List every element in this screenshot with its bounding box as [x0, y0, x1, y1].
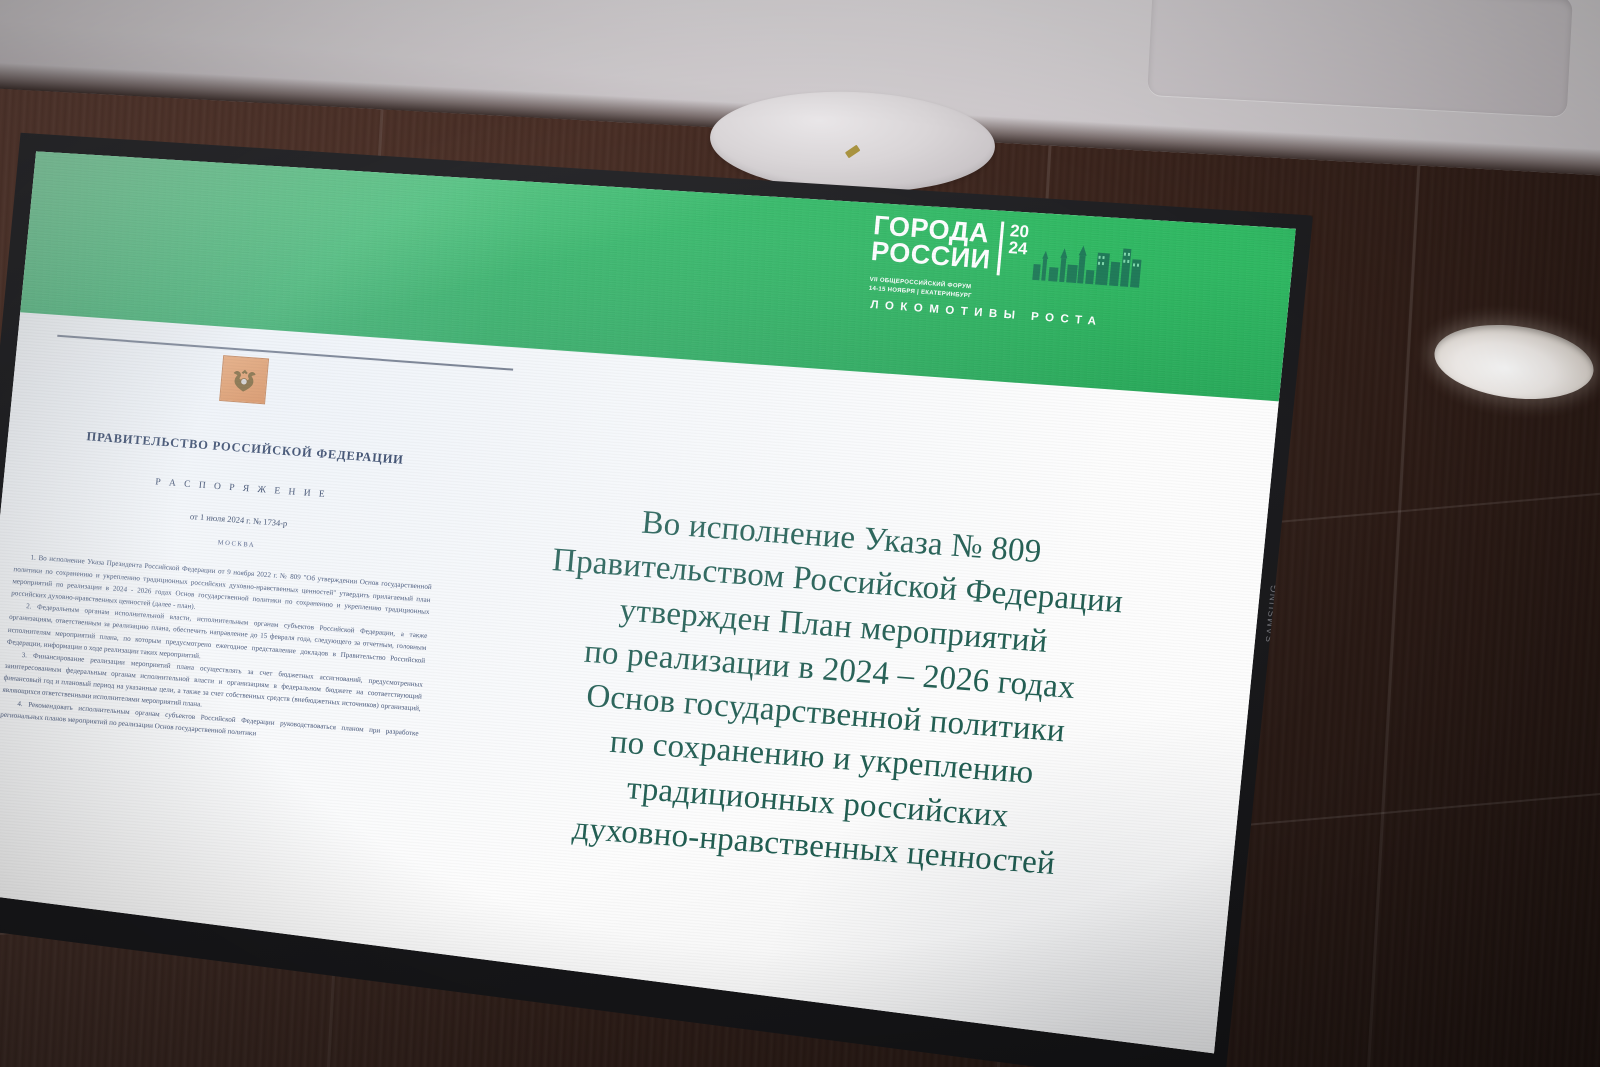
government-decree-document: ПРАВИТЕЛЬСТВО РОССИЙСКОЙ ФЕДЕРАЦИИ Р А С… — [0, 332, 456, 938]
wall-mounted-television: SAMSUNG ГОРОДА РОССИИ — [0, 119, 1325, 1067]
forum-logo: ГОРОДА РОССИИ 20 24 — [858, 212, 1267, 427]
forum-logo-year-block: 20 24 — [1008, 222, 1030, 257]
slide-headline: Во исполнение Указа № 809 Правительством… — [420, 487, 1236, 898]
document-type: Р А С П О Р Я Ж Е Н И Е — [39, 469, 444, 509]
presentation-slide: ГОРОДА РОССИИ 20 24 — [0, 132, 1296, 1067]
forum-logo-divider — [996, 221, 1004, 275]
conference-room-scene: SAMSUNG ГОРОДА РОССИИ — [0, 0, 1600, 1067]
speaker-dome-slot — [844, 145, 860, 159]
tv-screen: ГОРОДА РОССИИ 20 24 — [0, 132, 1296, 1067]
tv-bezel: SAMSUNG ГОРОДА РОССИИ — [0, 119, 1313, 1067]
russian-coat-of-arms-icon — [219, 355, 269, 404]
tv-brand-label: SAMSUNG — [1265, 583, 1281, 643]
forum-logo-line2: РОССИИ — [870, 238, 992, 273]
city-skyline-icon — [1030, 236, 1146, 293]
forum-logo-year-bottom: 24 — [1008, 239, 1028, 257]
document-body: 1. Во исполнение Указа Президента Россий… — [0, 551, 432, 752]
forum-logo-wordmark: ГОРОДА РОССИИ — [870, 212, 994, 274]
document-organization: ПРАВИТЕЛЬСТВО РОССИЙСКОЙ ФЕДЕРАЦИИ — [42, 426, 448, 471]
